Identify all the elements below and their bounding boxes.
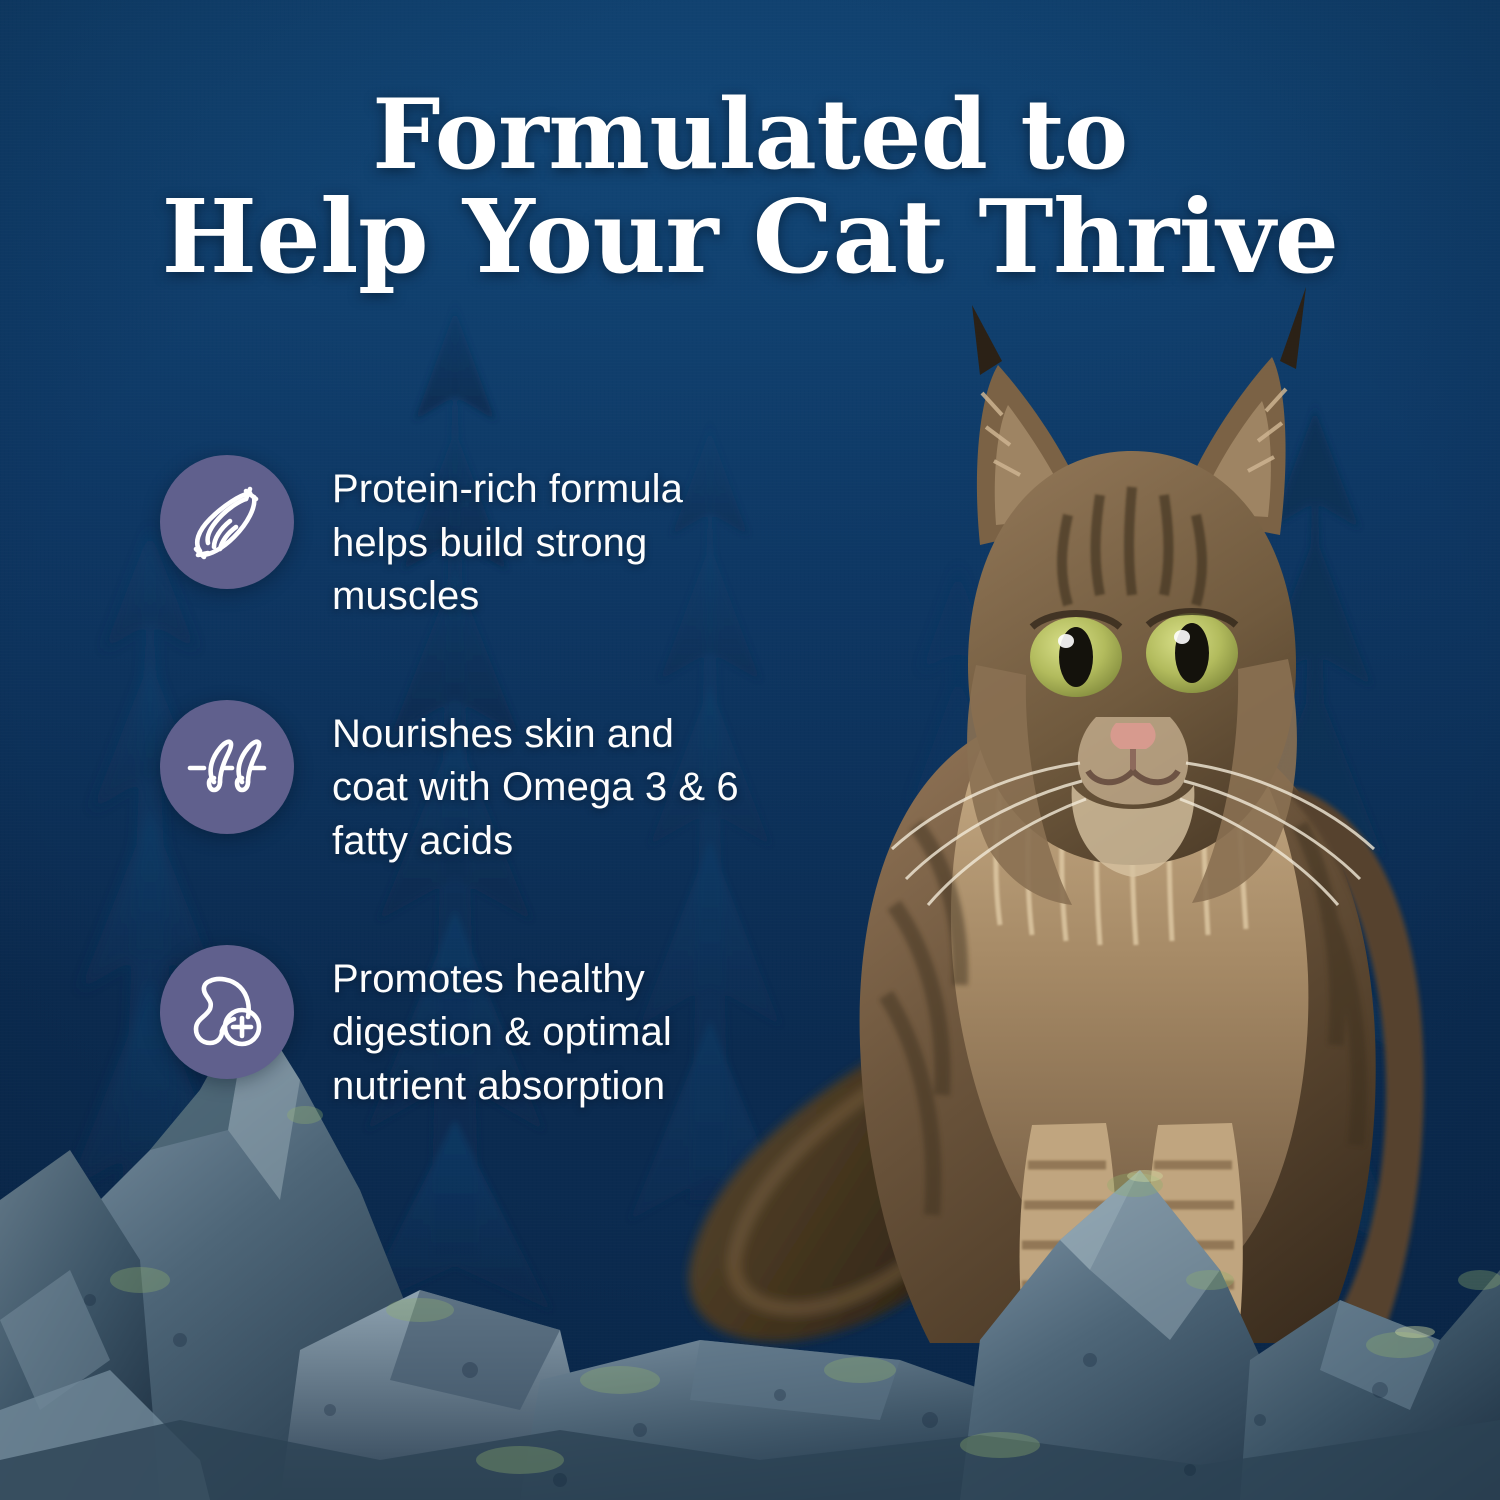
feature-icon-badge [160, 700, 294, 834]
feature-item-skin-coat: Nourishes skin and coat with Omega 3 & 6… [160, 700, 780, 869]
feature-text: Nourishes skin and coat with Omega 3 & 6… [332, 700, 752, 869]
feature-icon-badge [160, 455, 294, 589]
feature-list: Protein-rich formula helps build strong … [160, 455, 780, 1113]
feature-text: Promotes healthy digestion & optimal nut… [332, 945, 772, 1114]
promo-banner: Formulated to Help Your Cat Thrive [0, 0, 1500, 1500]
hair-follicle-skin-icon [184, 724, 270, 810]
headline-line-2: Help Your Cat Thrive [120, 185, 1380, 289]
feature-icon-badge [160, 945, 294, 1079]
feature-text: Protein-rich formula helps build strong … [332, 455, 762, 624]
page-title: Formulated to Help Your Cat Thrive [0, 86, 1500, 289]
stomach-plus-icon [184, 969, 270, 1055]
feature-item-protein: Protein-rich formula helps build strong … [160, 455, 780, 624]
muscle-fiber-icon [184, 479, 270, 565]
headline-line-1: Formulated to [372, 78, 1127, 191]
feature-item-digestion: Promotes healthy digestion & optimal nut… [160, 945, 780, 1114]
